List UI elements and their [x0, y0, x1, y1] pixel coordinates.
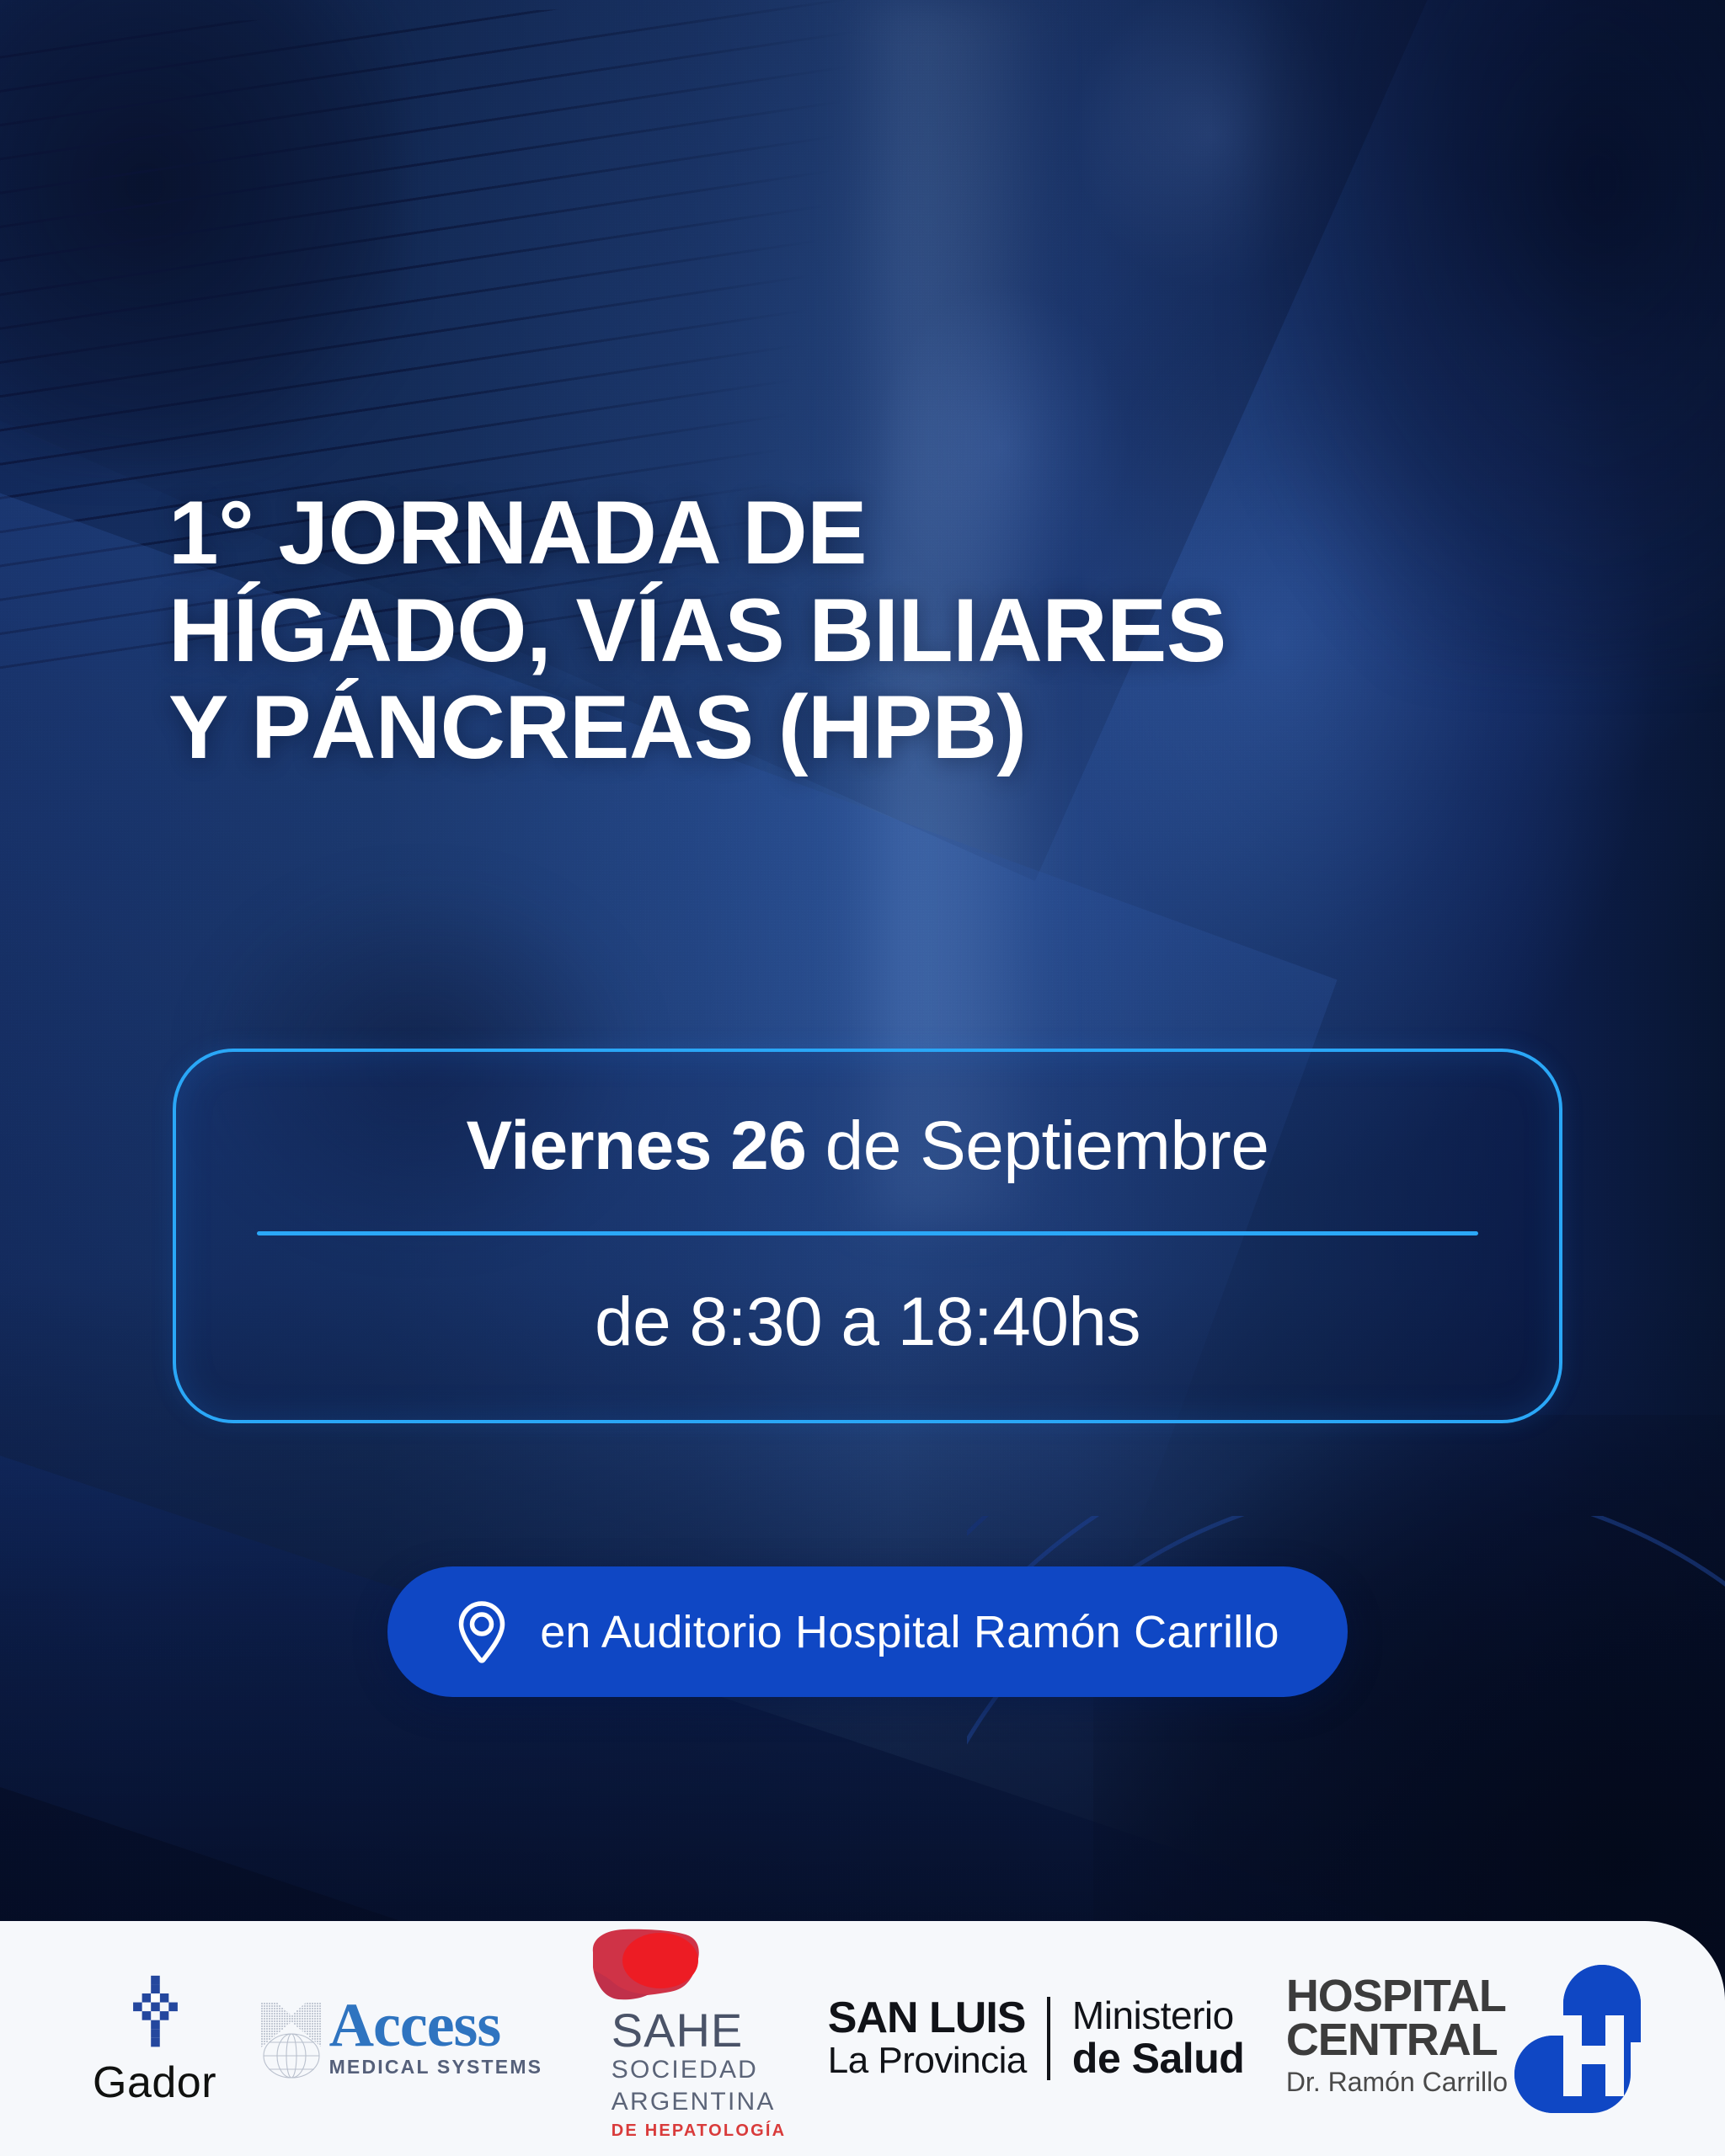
- event-date: Viernes 26 de Septiembre: [467, 1107, 1269, 1186]
- location-label: en Auditorio Hospital Ramón Carrillo: [540, 1606, 1279, 1658]
- sahe-liver-icon: [579, 1927, 704, 2018]
- sponsor-logo-sahe[interactable]: SAHE SOCIEDAD ARGENTINA DE HEPATOLOGÍA: [585, 1935, 786, 2143]
- event-time: de 8:30 a 18:40hs: [595, 1283, 1140, 1362]
- sponsor-hospital-line3: Dr. Ramón Carrillo: [1286, 2062, 1508, 2102]
- sponsor-sanluis-line3: Ministerio: [1072, 1995, 1234, 2036]
- sponsor-name-gador: Gador: [93, 2061, 216, 2105]
- sponsor-sahe-line2: SOCIEDAD: [611, 2054, 786, 2086]
- sponsor-tagline-access: MEDICAL SYSTEMS: [329, 2056, 543, 2079]
- event-date-strong: Viernes 26: [467, 1107, 807, 1184]
- sponsor-name-access: Access: [329, 1997, 543, 2054]
- title-line-1: 1° JORNADA DE: [168, 484, 1516, 582]
- gador-diamond-checkerboard-icon: [115, 1973, 195, 2054]
- hospital-central-h-icon: [1514, 1965, 1641, 2113]
- title-line-2: HÍGADO, VÍAS BILIARES: [168, 582, 1516, 680]
- sponsor-logo-hospital-central[interactable]: HOSPITAL CENTRAL Dr. Ramón Carrillo: [1286, 1965, 1641, 2113]
- map-pin-icon: [456, 1600, 508, 1664]
- date-box-separator: [257, 1231, 1478, 1235]
- poster-content: 1° JORNADA DE HÍGADO, VÍAS BILIARES Y PÁ…: [0, 0, 1725, 2156]
- sponsor-hospital-line1: HOSPITAL: [1286, 1975, 1506, 2019]
- sponsor-logo-gador[interactable]: Gador: [93, 1973, 216, 2105]
- event-poster: 1° JORNADA DE HÍGADO, VÍAS BILIARES Y PÁ…: [0, 0, 1725, 2156]
- sponsor-sanluis-line4: de Salud: [1072, 2036, 1244, 2082]
- sponsor-sanluis-line1: SAN LUIS: [828, 1996, 1026, 2040]
- title-line-3: Y PÁNCREAS (HPB): [168, 679, 1516, 776]
- sponsor-sahe-line4: DE HEPATOLOGÍA: [611, 2120, 786, 2142]
- sponsor-hospital-line2: CENTRAL: [1286, 2019, 1498, 2063]
- sponsor-sanluis-line2: La Provincia: [828, 2040, 1027, 2081]
- sponsor-logo-access[interactable]: Access MEDICAL SYSTEMS: [259, 1997, 543, 2081]
- event-date-month: de Septiembre: [806, 1107, 1268, 1184]
- location-pill[interactable]: en Auditorio Hospital Ramón Carrillo: [387, 1566, 1348, 1697]
- sponsors-footer: Gador: [0, 1921, 1725, 2156]
- sponsor-logo-san-luis-ministerio-de-salud[interactable]: SAN LUIS La Provincia Ministerio de Salu…: [828, 1995, 1245, 2082]
- page-title: 1° JORNADA DE HÍGADO, VÍAS BILIARES Y PÁ…: [168, 484, 1516, 776]
- access-arch-globe-icon: [259, 2000, 324, 2081]
- event-date-box: Viernes 26 de Septiembre de 8:30 a 18:40…: [173, 1049, 1562, 1423]
- sponsor-sahe-line3: ARGENTINA: [611, 2086, 786, 2118]
